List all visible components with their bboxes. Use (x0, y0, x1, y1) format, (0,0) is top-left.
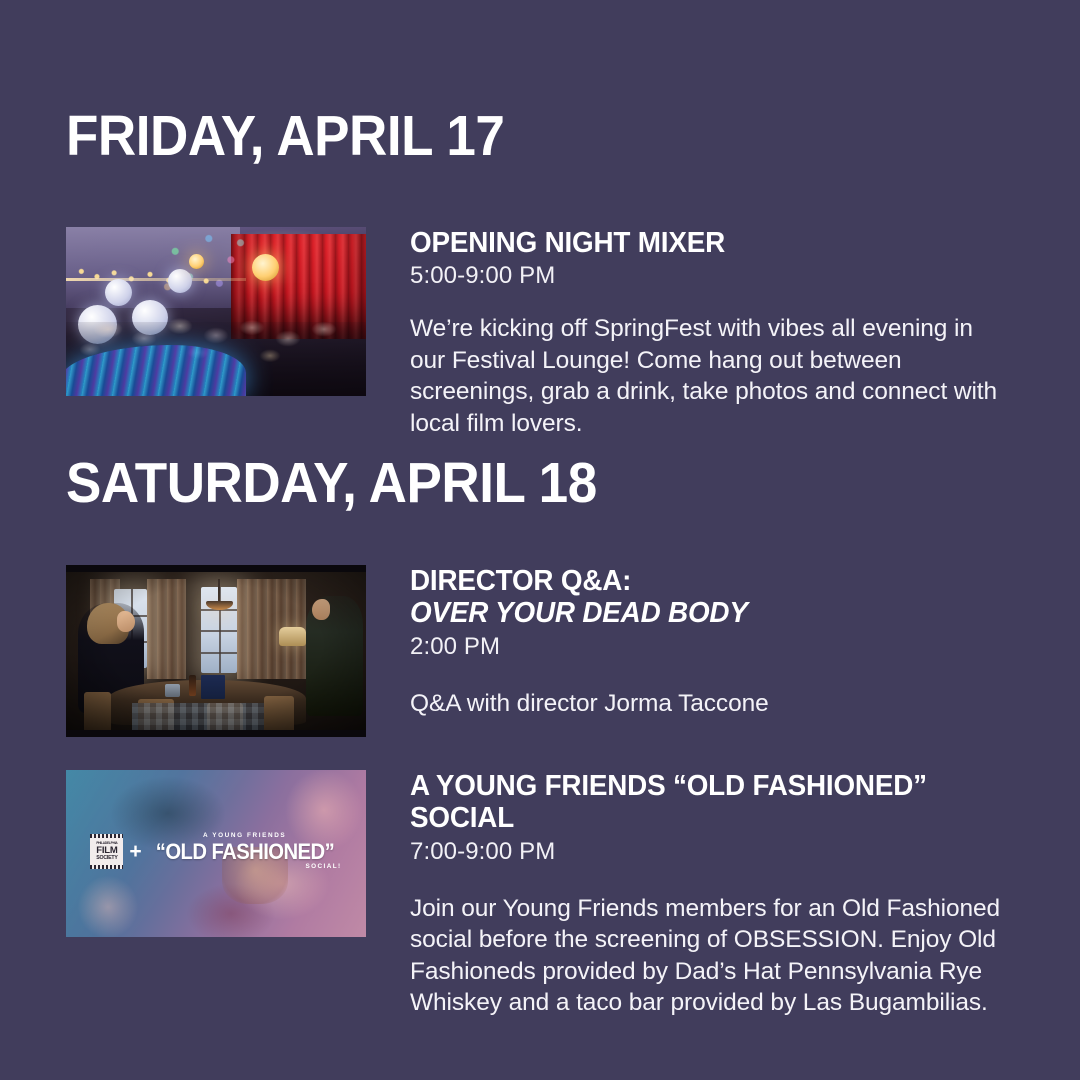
wordmark-main: “OLD FASHIONED” (155, 841, 333, 863)
image-vignette (66, 565, 366, 737)
event-description: Q&A with director Jorma Taccone (410, 688, 1010, 719)
event-title: OPENING NIGHT MIXER (410, 227, 986, 259)
event-thumbnail-director-qa (66, 565, 366, 737)
event-time: 2:00 PM (410, 632, 1010, 662)
hanging-lamp (252, 254, 279, 281)
film-still-image (66, 565, 366, 737)
film-society-logo-icon: PHILADELPHIA FILM SOCIETY (90, 834, 123, 869)
logo-lockup: PHILADELPHIA FILM SOCIETY + A YOUNG FRIE… (90, 833, 341, 870)
event-film-title: OVER YOUR DEAD BODY (410, 597, 986, 629)
day-heading-friday: FRIDAY, APRIL 17 (66, 108, 504, 165)
logo-society-label: SOCIETY (96, 856, 117, 861)
event-title: A YOUNG FRIENDS “OLD FASHIONED” SOCIAL (410, 770, 986, 835)
old-fashioned-social-graphic: PHILADELPHIA FILM SOCIETY + A YOUNG FRIE… (66, 770, 366, 937)
lounge-party-image (66, 227, 366, 396)
social-wordmark: A YOUNG FRIENDS “OLD FASHIONED” SOCIAL! (148, 833, 342, 870)
string-lights (72, 264, 228, 301)
plus-icon: + (129, 841, 141, 862)
event-title-main: A YOUNG FRIENDS “OLD FASHIONED” SOCIAL (410, 770, 927, 834)
wordmark-sub: SOCIAL! (148, 864, 342, 870)
event-text-opening-night-mixer: OPENING NIGHT MIXER 5:00-9:00 PM We’re k… (410, 227, 1010, 439)
event-thumbnail-opening-night-mixer (66, 227, 366, 396)
event-description: We’re kicking off SpringFest with vibes … (410, 313, 1010, 438)
event-time: 5:00-9:00 PM (410, 261, 1010, 291)
letterbox-bar (66, 730, 366, 737)
event-thumbnail-old-fashioned-social: PHILADELPHIA FILM SOCIETY + A YOUNG FRIE… (66, 770, 366, 937)
event-description: Join our Young Friends members for an Ol… (410, 893, 1010, 1018)
event-title-main: OPENING NIGHT MIXER (410, 227, 725, 259)
balloon (168, 269, 192, 293)
balcony-rail (66, 278, 246, 281)
day-heading-saturday: SATURDAY, APRIL 18 (66, 455, 597, 512)
event-title: DIRECTOR Q&A: OVER YOUR DEAD BODY (410, 565, 986, 630)
event-schedule-poster: FRIDAY, APRIL 17 OPENING N (0, 0, 1080, 1080)
event-text-director-qa: DIRECTOR Q&A: OVER YOUR DEAD BODY 2:00 P… (410, 565, 1010, 719)
graphic-text-overlay: PHILADELPHIA FILM SOCIETY + A YOUNG FRIE… (66, 770, 366, 937)
event-title-main: DIRECTOR Q&A: (410, 565, 631, 597)
event-time: 7:00-9:00 PM (410, 837, 1010, 867)
event-text-old-fashioned-social: A YOUNG FRIENDS “OLD FASHIONED” SOCIAL 7… (410, 770, 1010, 1018)
letterbox-bar (66, 565, 366, 572)
